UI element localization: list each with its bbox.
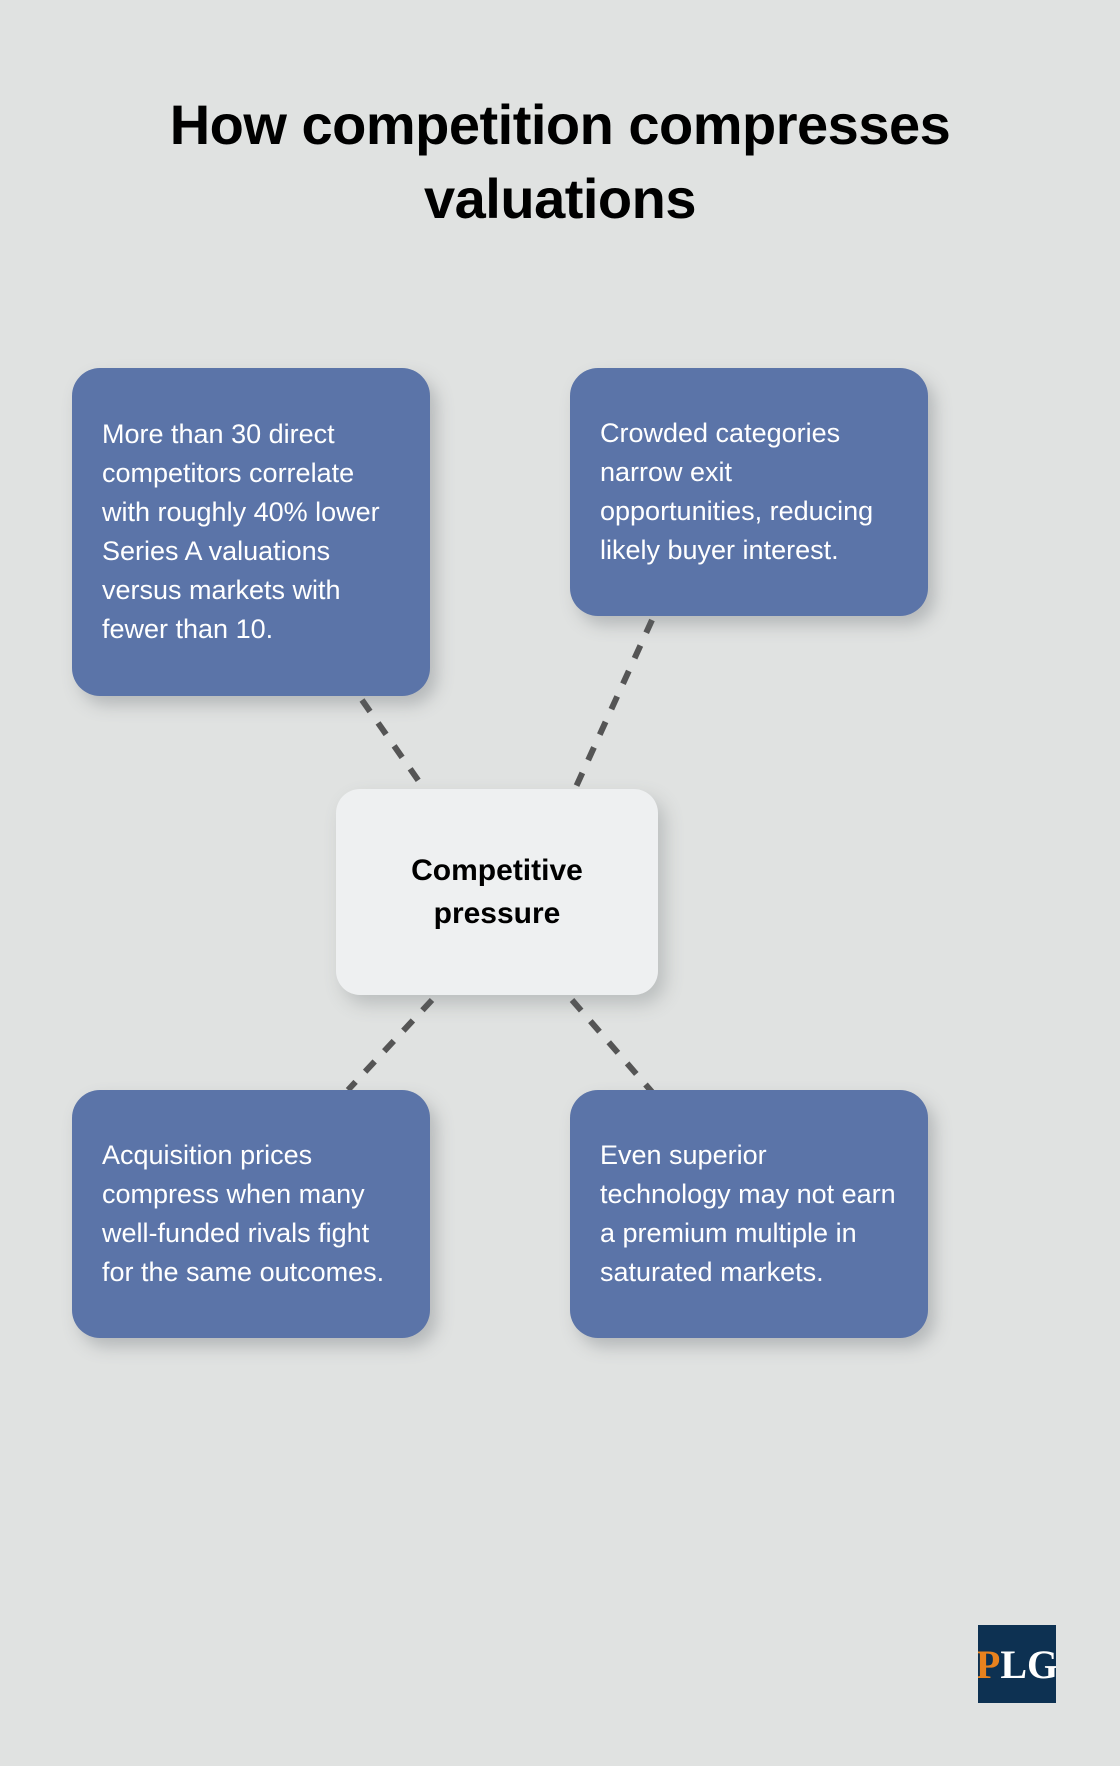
node-card-top-left[interactable]: More than 30 direct competitors correlat… [72,368,430,696]
node-card-top-right-text: Crowded categories narrow exit opportuni… [600,414,898,570]
connector-top-left [362,700,432,800]
infographic-canvas: How competition compresses valuations Mo… [0,0,1120,1766]
node-card-top-left-text: More than 30 direct competitors correlat… [102,415,400,648]
node-card-bottom-left-text: Acquisition prices compress when many we… [102,1136,400,1292]
node-card-top-right[interactable]: Crowded categories narrow exit opportuni… [570,368,928,616]
node-card-bottom-left[interactable]: Acquisition prices compress when many we… [72,1090,430,1338]
svg-text:PLG: PLG [978,1642,1056,1687]
center-node[interactable]: Competitive pressure [336,789,658,995]
plg-logo: PLG [978,1625,1056,1703]
page-title: How competition compresses valuations [0,88,1120,236]
connector-bottom-right [572,1000,652,1092]
node-card-bottom-right[interactable]: Even superior technology may not earn a … [570,1090,928,1338]
connector-bottom-left [348,1000,432,1090]
node-card-bottom-right-text: Even superior technology may not earn a … [600,1136,898,1292]
center-node-label: Competitive pressure [362,849,632,936]
plg-logo-icon: PLG [978,1625,1056,1703]
connector-top-right [570,620,652,800]
